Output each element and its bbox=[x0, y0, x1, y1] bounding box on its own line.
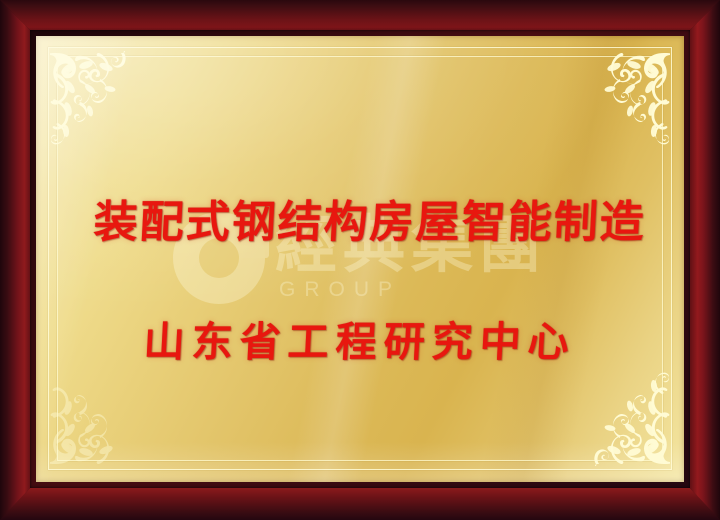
award-plaque: 經典集團 GROUP 装配式钢结构房屋智能制造 山东省工程研究中心 bbox=[0, 0, 720, 520]
floral-scroll-corner-icon bbox=[562, 360, 670, 468]
plaque-title-line-1: 装配式钢结构房屋智能制造 bbox=[92, 186, 627, 250]
plaque-title-line-2: 山东省工程研究中心 bbox=[92, 308, 627, 368]
frame-edge-right bbox=[686, 0, 720, 520]
frame-edge-top bbox=[0, 0, 720, 34]
plaque-title-block: 装配式钢结构房屋智能制造 山东省工程研究中心 bbox=[94, 186, 626, 368]
frame-edge-left bbox=[0, 0, 34, 520]
floral-scroll-corner-icon bbox=[50, 49, 158, 157]
floral-scroll-corner-icon bbox=[50, 360, 158, 468]
gold-plate: 經典集團 GROUP 装配式钢结构房屋智能制造 山东省工程研究中心 bbox=[36, 36, 684, 482]
frame-edge-bottom bbox=[0, 484, 720, 520]
floral-scroll-corner-icon bbox=[562, 49, 670, 157]
